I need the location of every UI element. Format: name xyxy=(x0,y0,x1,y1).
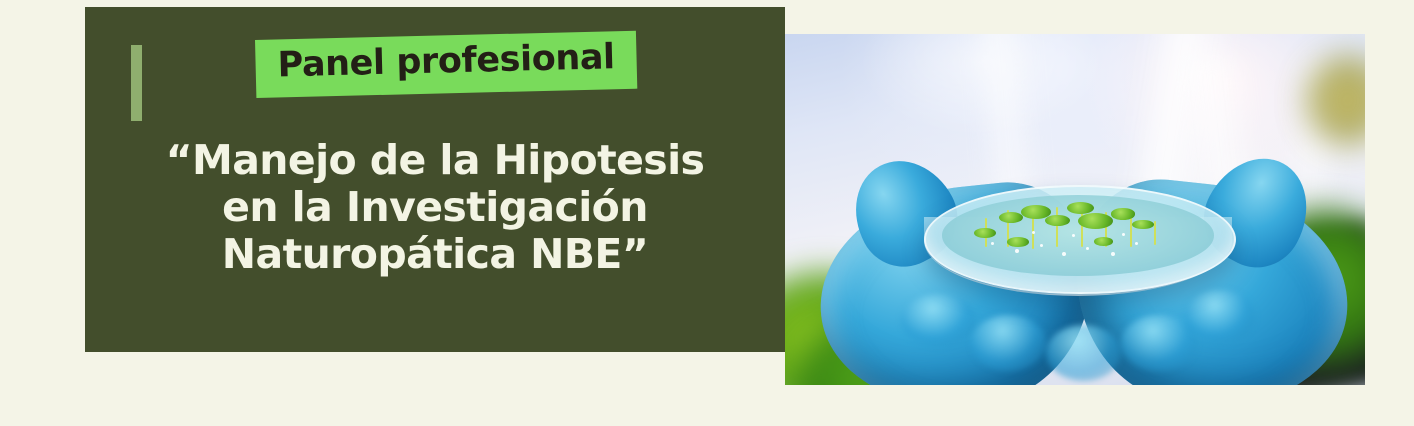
page-title: “Manejo de la Hipotesis en la Investigac… xyxy=(85,137,785,278)
agar-speck xyxy=(1015,249,1019,253)
agar-speck xyxy=(1032,231,1035,234)
eyebrow-highlight-box: Panel profesional xyxy=(255,31,637,98)
seedling-leaf xyxy=(1094,237,1113,246)
seedling-leaf xyxy=(1067,202,1094,214)
page-title-line-2: en la Investigación xyxy=(85,184,785,231)
eyebrow-badge: Panel profesional xyxy=(255,31,637,98)
page-title-line-1: “Manejo de la Hipotesis xyxy=(85,137,785,184)
hero-photo-illustration xyxy=(785,34,1365,385)
seedling-leaf xyxy=(1045,215,1070,226)
agar-speck xyxy=(1135,242,1138,245)
hero-photo xyxy=(785,34,1365,385)
agar-speck xyxy=(1062,252,1066,256)
seedling-leaf xyxy=(1007,237,1029,247)
seedling-leaf xyxy=(1132,220,1154,230)
page-title-line-3: Naturopática NBE” xyxy=(85,231,785,278)
glove-knuckle xyxy=(1185,290,1255,343)
seedling-leaf xyxy=(1111,208,1136,219)
text-panel: Panel profesional “Manejo de la Hipotesi… xyxy=(85,7,785,352)
eyebrow-label: Panel profesional xyxy=(277,40,615,84)
promo-banner: Panel profesional “Manejo de la Hipotesi… xyxy=(0,0,1414,426)
seedling-leaf xyxy=(999,212,1024,223)
seedling-stem xyxy=(1056,207,1058,247)
petri-dish-agar xyxy=(942,195,1215,276)
agar-speck xyxy=(991,242,994,245)
seedling-leaf xyxy=(1078,213,1113,229)
glove-knuckle xyxy=(971,315,1046,371)
agar-speck xyxy=(1072,234,1075,237)
agar-speck xyxy=(1122,233,1125,236)
agar-speck xyxy=(1040,244,1043,247)
agar-speck xyxy=(1086,247,1089,250)
seedling-stem xyxy=(1154,221,1156,245)
accent-bar xyxy=(131,45,142,121)
seedling-leaf xyxy=(974,228,996,238)
agar-speck xyxy=(1111,252,1115,256)
seedling-stem xyxy=(1130,216,1132,247)
